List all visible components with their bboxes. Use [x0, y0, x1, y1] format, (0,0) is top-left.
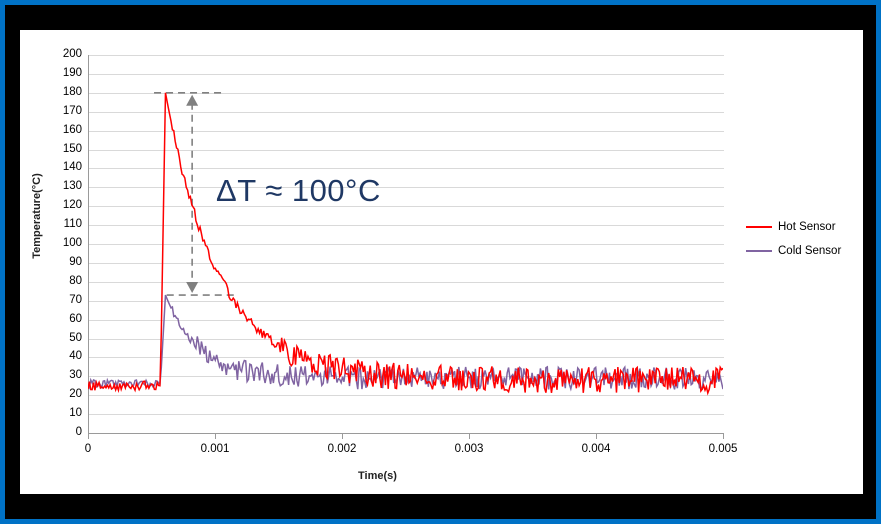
x-tick-mark: [469, 434, 470, 439]
x-tick-mark: [342, 434, 343, 439]
chart-legend: Hot SensorCold Sensor: [746, 215, 861, 263]
legend-color-swatch: [746, 250, 772, 253]
y-tick-label: 40: [69, 351, 82, 362]
y-tick-label: 190: [63, 68, 82, 79]
x-tick-label: 0.003: [455, 443, 484, 455]
series-lines: [88, 55, 723, 433]
y-tick-label: 150: [63, 144, 82, 155]
x-axis-title: Time(s): [20, 470, 735, 482]
y-tick-label: 130: [63, 181, 82, 192]
series-line-hot-sensor: [88, 93, 723, 393]
y-tick-label: 70: [69, 295, 82, 306]
y-axis-tick-labels: 0102030405060708090100110120130140150160…: [20, 55, 82, 433]
delta-t-arrowhead-down: [186, 282, 198, 293]
delta-t-annotation: ΔT ≈ 100°C: [216, 173, 381, 209]
y-tick-label: 180: [63, 87, 82, 98]
y-tick-label: 120: [63, 200, 82, 211]
chart-card: Temperature(°C) Time(s) 0102030405060708…: [20, 30, 863, 494]
screenshot-root: Temperature(°C) Time(s) 0102030405060708…: [0, 0, 881, 524]
legend-item[interactable]: Hot Sensor: [746, 215, 861, 239]
x-tick-label: 0.004: [582, 443, 611, 455]
x-tick-label: 0.005: [709, 443, 738, 455]
chart-root: Temperature(°C) Time(s) 0102030405060708…: [20, 30, 863, 494]
x-tick-mark: [723, 434, 724, 439]
y-tick-label: 10: [69, 408, 82, 419]
y-tick-label: 140: [63, 162, 82, 173]
x-tick-mark: [215, 434, 216, 439]
y-tick-label: 110: [64, 219, 82, 230]
y-tick-label: 30: [69, 370, 82, 381]
legend-item[interactable]: Cold Sensor: [746, 239, 861, 263]
y-tick-label: 0: [76, 427, 82, 438]
x-tick-label: 0.001: [201, 443, 230, 455]
y-tick-label: 60: [69, 314, 82, 325]
x-tick-mark: [88, 434, 89, 439]
y-tick-label: 100: [63, 238, 82, 249]
x-tick-label: 0: [85, 443, 91, 455]
y-tick-label: 200: [63, 49, 82, 60]
y-tick-label: 170: [63, 106, 82, 117]
legend-item-label: Hot Sensor: [778, 221, 836, 233]
x-tick-label: 0.002: [328, 443, 357, 455]
x-tick-mark: [596, 434, 597, 439]
y-tick-label: 80: [69, 276, 82, 287]
y-tick-label: 160: [63, 125, 82, 136]
y-tick-label: 90: [69, 257, 82, 268]
delta-t-arrowhead-up: [186, 95, 198, 106]
y-tick-label: 50: [69, 333, 82, 344]
legend-color-swatch: [746, 226, 772, 229]
y-tick-label: 20: [69, 389, 82, 400]
legend-item-label: Cold Sensor: [778, 245, 841, 257]
